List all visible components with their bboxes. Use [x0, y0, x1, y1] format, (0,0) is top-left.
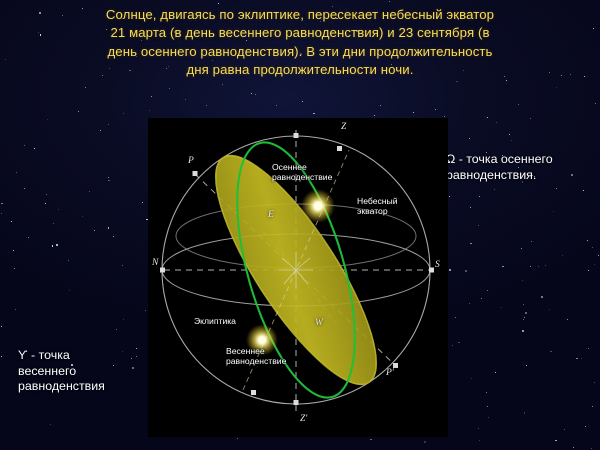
label-north: N: [152, 258, 158, 268]
label-west: W: [315, 318, 323, 328]
label-pole-south: P': [386, 368, 394, 378]
label-east: E: [268, 210, 274, 220]
marker-south: [429, 268, 434, 273]
label-pole-north: P: [188, 156, 194, 166]
label-south: S: [435, 260, 440, 270]
marker-zenith: [294, 133, 299, 138]
celestial-sphere-diagram: Z Z' P P' N S E W Осеннее равноденствие …: [148, 118, 448, 437]
marker-pole-north: [193, 171, 198, 176]
marker-ecliptic-top: [337, 146, 342, 151]
label-ecliptic: Эклиптика: [194, 316, 274, 326]
label-spring-equinox: Весеннее равноденствие: [226, 346, 336, 366]
marker-ecliptic-bottom: [251, 390, 256, 395]
marker-nadir: [294, 400, 299, 405]
label-nadir: Z': [300, 414, 307, 424]
note-spring-equinox: Ƴ - точка весеннего равноденствия: [18, 348, 150, 395]
note-autumn-equinox: Ω - точка осеннего равноденствия.: [446, 152, 596, 183]
slide-canvas: Солнце, двигаясь по эклиптике, пересекае…: [0, 0, 600, 450]
label-autumn-equinox: Осеннее равноденствие: [272, 162, 367, 182]
sun-autumn-core: [314, 202, 322, 210]
sun-spring-core: [258, 336, 266, 344]
marker-north: [160, 268, 165, 273]
slide-title: Солнце, двигаясь по эклиптике, пересекае…: [24, 6, 576, 80]
label-celestial-equator: Небесный экватор: [357, 196, 427, 216]
label-zenith: Z: [341, 122, 346, 132]
